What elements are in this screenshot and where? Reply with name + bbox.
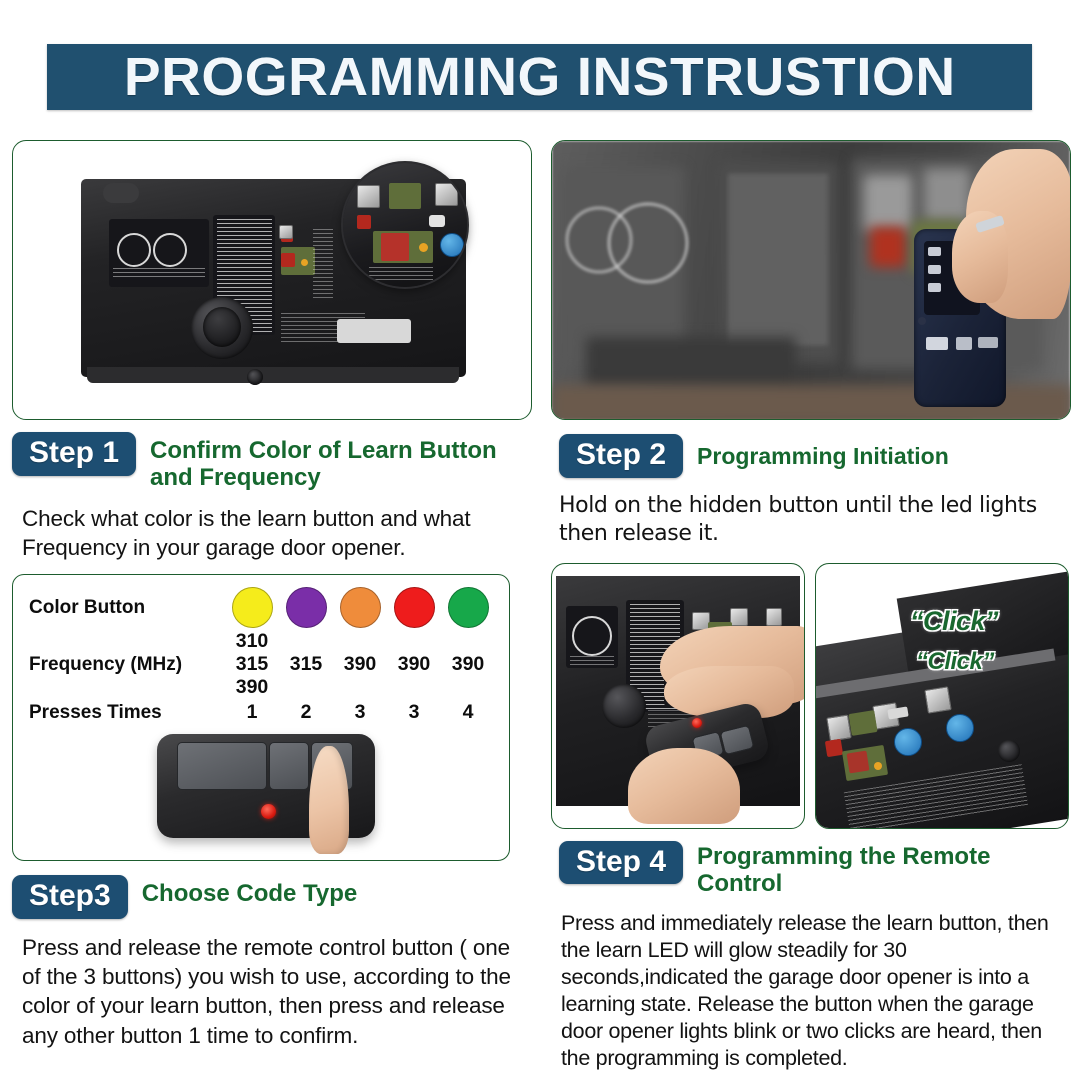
table-cell-presses: 3 [333, 701, 387, 724]
table-cell-frequency: 310 315 390 [225, 630, 279, 699]
table-cell-swatch [441, 587, 495, 628]
color-frequency-table: Color Button Frequency (MHz) 310 315 390… [12, 574, 510, 861]
table-cell-frequency: 390 [387, 653, 441, 676]
table-cell-presses: 4 [441, 701, 495, 724]
table-cell-swatch [279, 587, 333, 628]
hand-with-remote-photo [552, 141, 1070, 419]
right-column: Step 2 Programming Initiation Hold on th… [551, 140, 1071, 1072]
table-cell-swatch [387, 587, 441, 628]
step-1-header-row: Step 1 Confirm Color of Learn Button and… [12, 432, 532, 492]
color-swatch-purple [286, 587, 327, 628]
table-cell-frequency: 390 [333, 653, 387, 676]
table-row-label-frequency: Frequency (MHz) [29, 654, 225, 676]
click-callout-1: “Click” [910, 606, 998, 637]
color-swatch-yellow [232, 587, 273, 628]
dial-1 [894, 728, 922, 756]
table-cell-presses: 1 [225, 701, 279, 724]
step-4-heading: Programming the Remote Control [697, 841, 1071, 898]
table-cell-swatch [225, 587, 279, 628]
step-4-body: Press and immediately release the learn … [551, 910, 1073, 1072]
dial-2 [946, 714, 974, 742]
table-row-label-color: Color Button [29, 597, 225, 619]
step-2-body: Hold on the hidden button until the led … [551, 492, 1059, 549]
color-swatch-orange [340, 587, 381, 628]
step-4-image-group: “Click” “Click” [551, 563, 1071, 829]
step-3-image-panel [29, 730, 495, 848]
step-2-header-row: Step 2 Programming Initiation [551, 434, 1071, 478]
color-swatch-green [448, 587, 489, 628]
step-3-header-row: Step3 Choose Code Type [12, 875, 532, 919]
table-grid: Color Button Frequency (MHz) 310 315 390… [29, 587, 495, 724]
step-1-image-panel [12, 140, 532, 420]
step-2-badge: Step 2 [559, 434, 683, 478]
step-3-heading: Choose Code Type [142, 875, 358, 907]
table-cell-swatch [333, 587, 387, 628]
table-cell-presses: 2 [279, 701, 333, 724]
step-1-heading: Confirm Color of Learn Button and Freque… [150, 432, 532, 492]
table-row-label-presses: Presses Times [29, 702, 225, 724]
step-4-header-row: Step 4 Programming the Remote Control [551, 841, 1071, 898]
step-4-image-panel-left [551, 563, 805, 829]
magnifier-inset [343, 163, 467, 287]
step-2-image-panel [551, 140, 1071, 420]
step-3-badge: Step3 [12, 875, 128, 919]
pressing-learn-button-photo [552, 564, 804, 828]
remote-button-1 [177, 742, 267, 790]
step-4-image-panel-right: “Click” “Click” [815, 563, 1069, 829]
table-cell-frequency: 390 [441, 653, 495, 676]
step-1-badge: Step 1 [12, 432, 136, 476]
click-callout-2: “Click” [916, 648, 994, 676]
opener-clicking-photo: “Click” “Click” [816, 564, 1068, 828]
finger-pressing-remote [309, 746, 349, 854]
remote-button-2 [269, 742, 309, 790]
table-cell-frequency: 315 [279, 653, 333, 676]
step-3-body: Press and release the remote control but… [12, 933, 530, 1050]
page-title: PROGRAMMING INSTRUSTION [124, 46, 956, 108]
table-cell-presses: 3 [387, 701, 441, 724]
step-1-body: Check what color is the learn button and… [12, 504, 492, 563]
step-2-heading: Programming Initiation [697, 434, 949, 469]
step-4-badge: Step 4 [559, 841, 683, 885]
color-swatch-red [394, 587, 435, 628]
left-column: Step 1 Confirm Color of Learn Button and… [12, 140, 532, 1050]
opener-photo [13, 141, 531, 419]
page-header-bar: PROGRAMMING INSTRUSTION [47, 44, 1032, 110]
